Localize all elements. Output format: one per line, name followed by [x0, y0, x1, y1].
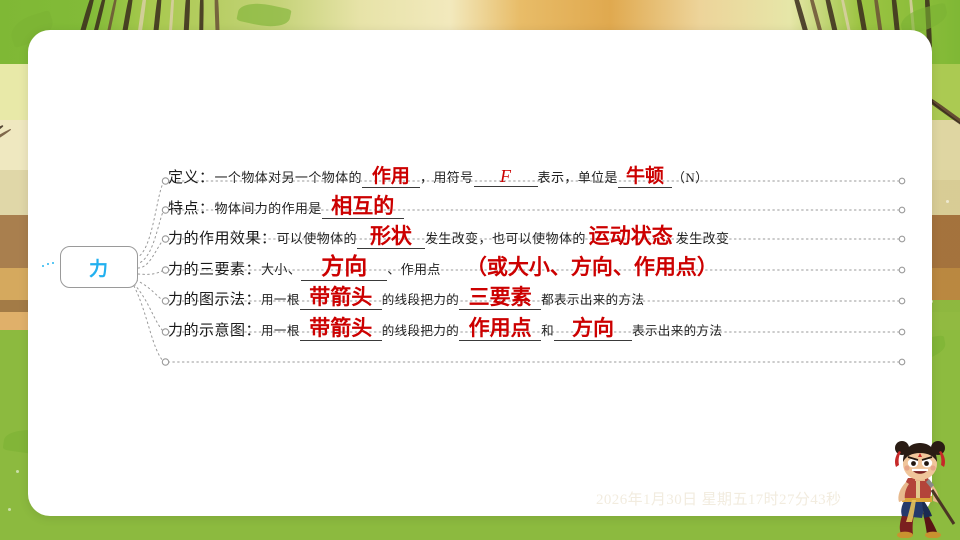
speckle-decoration — [16, 470, 19, 473]
branch-end-dot — [899, 267, 905, 273]
branch-text: 、作用点 — [387, 262, 441, 277]
speckle-decoration — [946, 200, 949, 203]
branch-colon: ： — [246, 292, 262, 308]
branch-text: 和 — [541, 324, 554, 338]
branch-text: ，用符号 — [420, 170, 474, 185]
mascot-character — [882, 438, 958, 538]
answer-blank: 作用点 — [459, 318, 541, 341]
answer-blank: 形状 — [357, 226, 425, 249]
branch-text: 都表示出来的方法 — [541, 293, 644, 307]
branch-text: 的线段把力的 — [382, 324, 459, 338]
mindmap-root-node[interactable]: 力 — [60, 246, 138, 288]
answer-blank: 带箭头 — [300, 318, 382, 341]
branch-text: 的线段把力的 — [382, 293, 459, 307]
branch-lead-label: 力的图示法 — [168, 292, 246, 308]
branch-lead-label: 力的示意图 — [168, 323, 246, 339]
branch-text: 发生改变 — [676, 231, 730, 246]
branch-text: 用一根 — [261, 324, 300, 338]
branch-text: 一个物体对另一个物体的 — [215, 170, 362, 185]
branch-text: 用一根 — [261, 293, 300, 307]
answer-blank: 带箭头 — [300, 287, 382, 310]
branch-end-dot — [899, 178, 905, 184]
branch-row-three-elements: 力的三要素：大小、方向、作用点（或大小、方向、作用点） — [168, 256, 721, 281]
branch-row-effect: 力的作用效果：可以使物体的形状发生改变，也可以使物体的运动状态发生改变 — [168, 226, 729, 249]
content-card: 力 定义：一个物体对另一个物体的作用，用符号F表示，单位是牛顿（N） 特点：物体… — [28, 30, 932, 516]
branch-colon: ： — [199, 170, 215, 186]
mind-map: 力 定义：一个物体对另一个物体的作用，用符号F表示，单位是牛顿（N） 特点：物体… — [28, 30, 932, 516]
answer-blank: 作用 — [362, 167, 420, 188]
branch-colon: ： — [199, 201, 215, 217]
branch-row-force-sketch: 力的示意图：用一根带箭头的线段把力的作用点和方向表示出来的方法 — [168, 318, 722, 341]
branch-lead-label: 力的作用效果 — [168, 231, 261, 247]
slide-canvas: 力 定义：一个物体对另一个物体的作用，用符号F表示，单位是牛顿（N） 特点：物体… — [0, 0, 960, 540]
branch-lead-label: 特点 — [168, 201, 199, 217]
answer-blank: 方向 — [554, 318, 632, 341]
branch-lead-label: 定义 — [168, 170, 199, 186]
branch-text: 可以使物体的 — [277, 231, 357, 246]
branch-colon: ： — [246, 323, 262, 339]
branch-lead-label: 力的三要素 — [168, 262, 246, 278]
branch-text: 大小、 — [261, 262, 301, 277]
branch-text: 表示出来的方法 — [632, 324, 722, 338]
branch-text: 表示，单位是 — [538, 170, 618, 185]
branch-row-definition: 定义：一个物体对另一个物体的作用，用符号F表示，单位是牛顿（N） — [168, 166, 709, 188]
branch-text: 发生改变，也可以使物体的 — [425, 231, 586, 246]
root-node-label: 力 — [89, 254, 109, 281]
answer-blank: F — [474, 167, 538, 187]
answer-blank: 方向 — [301, 256, 387, 281]
answer-text: 运动状态 — [586, 226, 676, 248]
answer-blank: 相互的 — [322, 196, 404, 219]
branch-colon: ： — [261, 231, 277, 247]
branch-text: 物体间力的作用是 — [215, 201, 322, 216]
branch-row-force-diagram: 力的图示法：用一根带箭头的线段把力的三要素都表示出来的方法 — [168, 287, 644, 310]
answer-blank: 牛顿 — [618, 167, 672, 188]
branch-end-dot — [899, 207, 905, 213]
branch-dot — [162, 359, 168, 365]
root-node-tail — [42, 262, 60, 270]
timestamp-label: 2026年1月30日 星期五17时27分43秒 — [596, 488, 841, 509]
branch-row-characteristic: 特点：物体间力的作用是相互的 — [168, 196, 404, 219]
branch-end-dot — [899, 329, 905, 335]
speckle-decoration — [8, 508, 11, 511]
branch-end-dot — [899, 298, 905, 304]
answer-blank: 三要素 — [459, 287, 541, 310]
branch-end-dot — [899, 359, 905, 365]
branch-text: （N） — [672, 170, 709, 185]
branch-colon: ： — [246, 262, 262, 278]
answer-note: （或大小、方向、作用点） — [463, 257, 721, 279]
branch-end-dot — [899, 236, 905, 242]
